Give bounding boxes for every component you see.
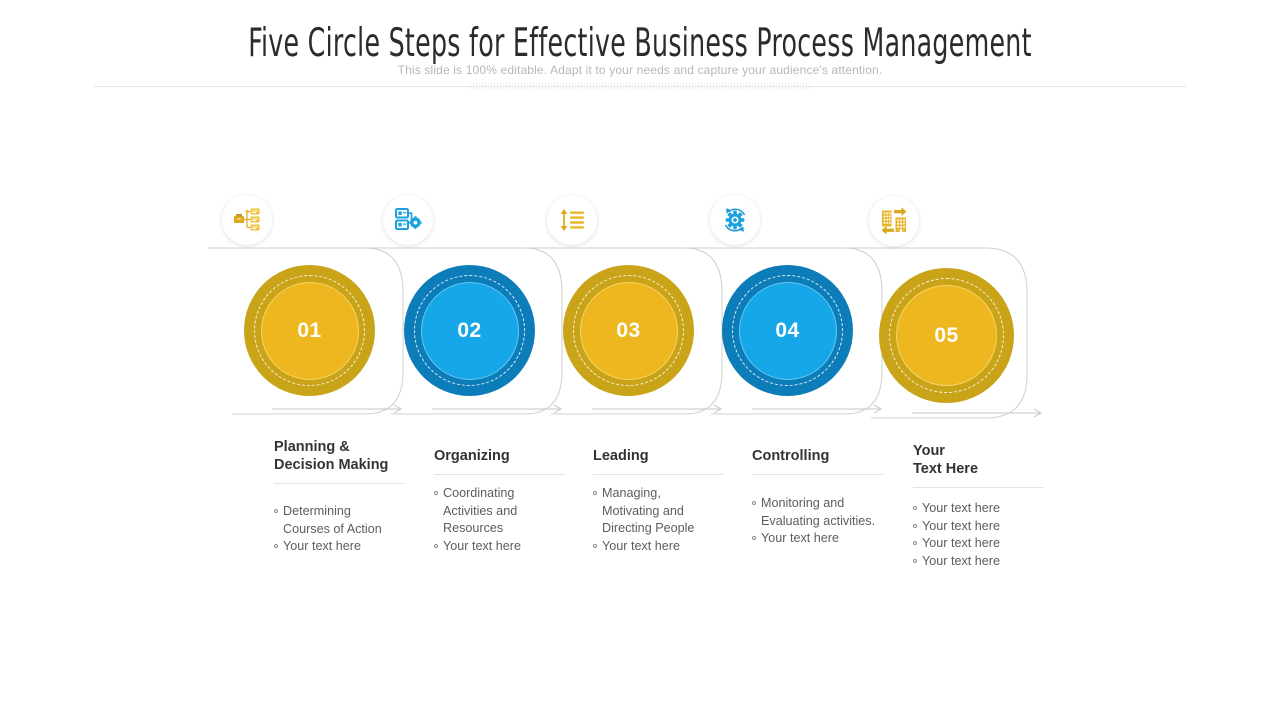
list-item: Your text here <box>913 518 1063 536</box>
step-title-divider <box>913 487 1044 488</box>
step-title-divider <box>434 474 565 475</box>
step-circle-05[interactable]: 05 <box>879 268 1014 403</box>
list-item: Your text here <box>913 500 1063 518</box>
step-text-column-01: Planning & Decision Making Determining C… <box>274 438 424 556</box>
step-title-05: Your Text Here <box>913 442 1063 478</box>
list-item: Your text here <box>593 538 743 556</box>
step-bullets-02: Coordinating Activities and Resources Yo… <box>434 485 584 555</box>
step-title-04: Controlling <box>752 447 902 465</box>
step-circle-03[interactable]: 03 <box>563 265 694 396</box>
step-icon-badge-03[interactable] <box>547 195 597 245</box>
gear-refresh-icon <box>720 205 750 235</box>
step-title-divider <box>752 474 883 475</box>
step-icon-badge-01[interactable] <box>222 195 272 245</box>
list-item: Monitoring and Evaluating activities. <box>752 495 902 530</box>
step-icon-badge-02[interactable] <box>383 195 433 245</box>
step-number-05: 05 <box>896 285 997 386</box>
step-bullets-04: Monitoring and Evaluating activities. Yo… <box>752 495 902 548</box>
step-title-03: Leading <box>593 447 743 465</box>
step-icon-badge-04[interactable] <box>710 195 760 245</box>
org-chart-icon <box>233 206 261 234</box>
step-bullets-03: Managing, Motivating and Directing Peopl… <box>593 485 743 555</box>
list-item: Your text here <box>434 538 584 556</box>
process-diagram: 01 02 <box>0 0 1280 720</box>
list-item: Coordinating Activities and Resources <box>434 485 584 538</box>
step-title-divider <box>274 483 405 484</box>
step-circle-01[interactable]: 01 <box>244 265 375 396</box>
step-text-column-05: Your Text Here Your text here Your text … <box>913 442 1063 570</box>
step-number-03: 03 <box>580 282 678 380</box>
list-item: Your text here <box>913 553 1063 571</box>
list-item: Determining Courses of Action <box>274 503 424 538</box>
sort-list-icon <box>558 206 586 234</box>
step-icon-badge-05[interactable] <box>869 196 919 246</box>
list-item: Your text here <box>274 538 424 556</box>
step-circle-02[interactable]: 02 <box>404 265 535 396</box>
step-number-02: 02 <box>421 282 519 380</box>
step-number-01: 01 <box>261 282 359 380</box>
list-item: Your text here <box>752 530 902 548</box>
server-gear-icon <box>394 206 422 234</box>
step-circle-04[interactable]: 04 <box>722 265 853 396</box>
step-title-01: Planning & Decision Making <box>274 438 424 474</box>
step-bullets-01: Determining Courses of Action Your text … <box>274 503 424 556</box>
buildings-exchange-icon <box>879 206 909 236</box>
list-item: Your text here <box>913 535 1063 553</box>
step-text-column-04: Controlling Monitoring and Evaluating ac… <box>752 447 902 548</box>
step-text-column-03: Leading Managing, Motivating and Directi… <box>593 447 743 555</box>
step-title-divider <box>593 474 724 475</box>
step-number-04: 04 <box>739 282 837 380</box>
step-text-column-02: Organizing Coordinating Activities and R… <box>434 447 584 555</box>
list-item: Managing, Motivating and Directing Peopl… <box>593 485 743 538</box>
step-bullets-05: Your text here Your text here Your text … <box>913 500 1063 570</box>
step-title-02: Organizing <box>434 447 584 465</box>
